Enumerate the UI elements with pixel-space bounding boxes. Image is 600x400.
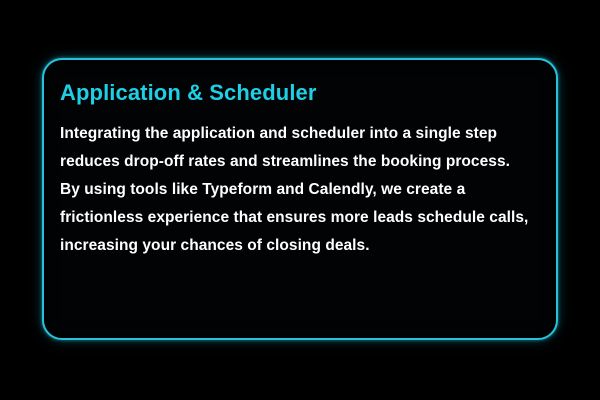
page-root: Application & Scheduler Integrating the … (0, 0, 600, 400)
info-card-content: Application & Scheduler Integrating the … (60, 80, 540, 260)
card-description: Integrating the application and schedule… (60, 120, 532, 260)
info-card: Application & Scheduler Integrating the … (42, 58, 558, 340)
card-title: Application & Scheduler (60, 80, 540, 106)
